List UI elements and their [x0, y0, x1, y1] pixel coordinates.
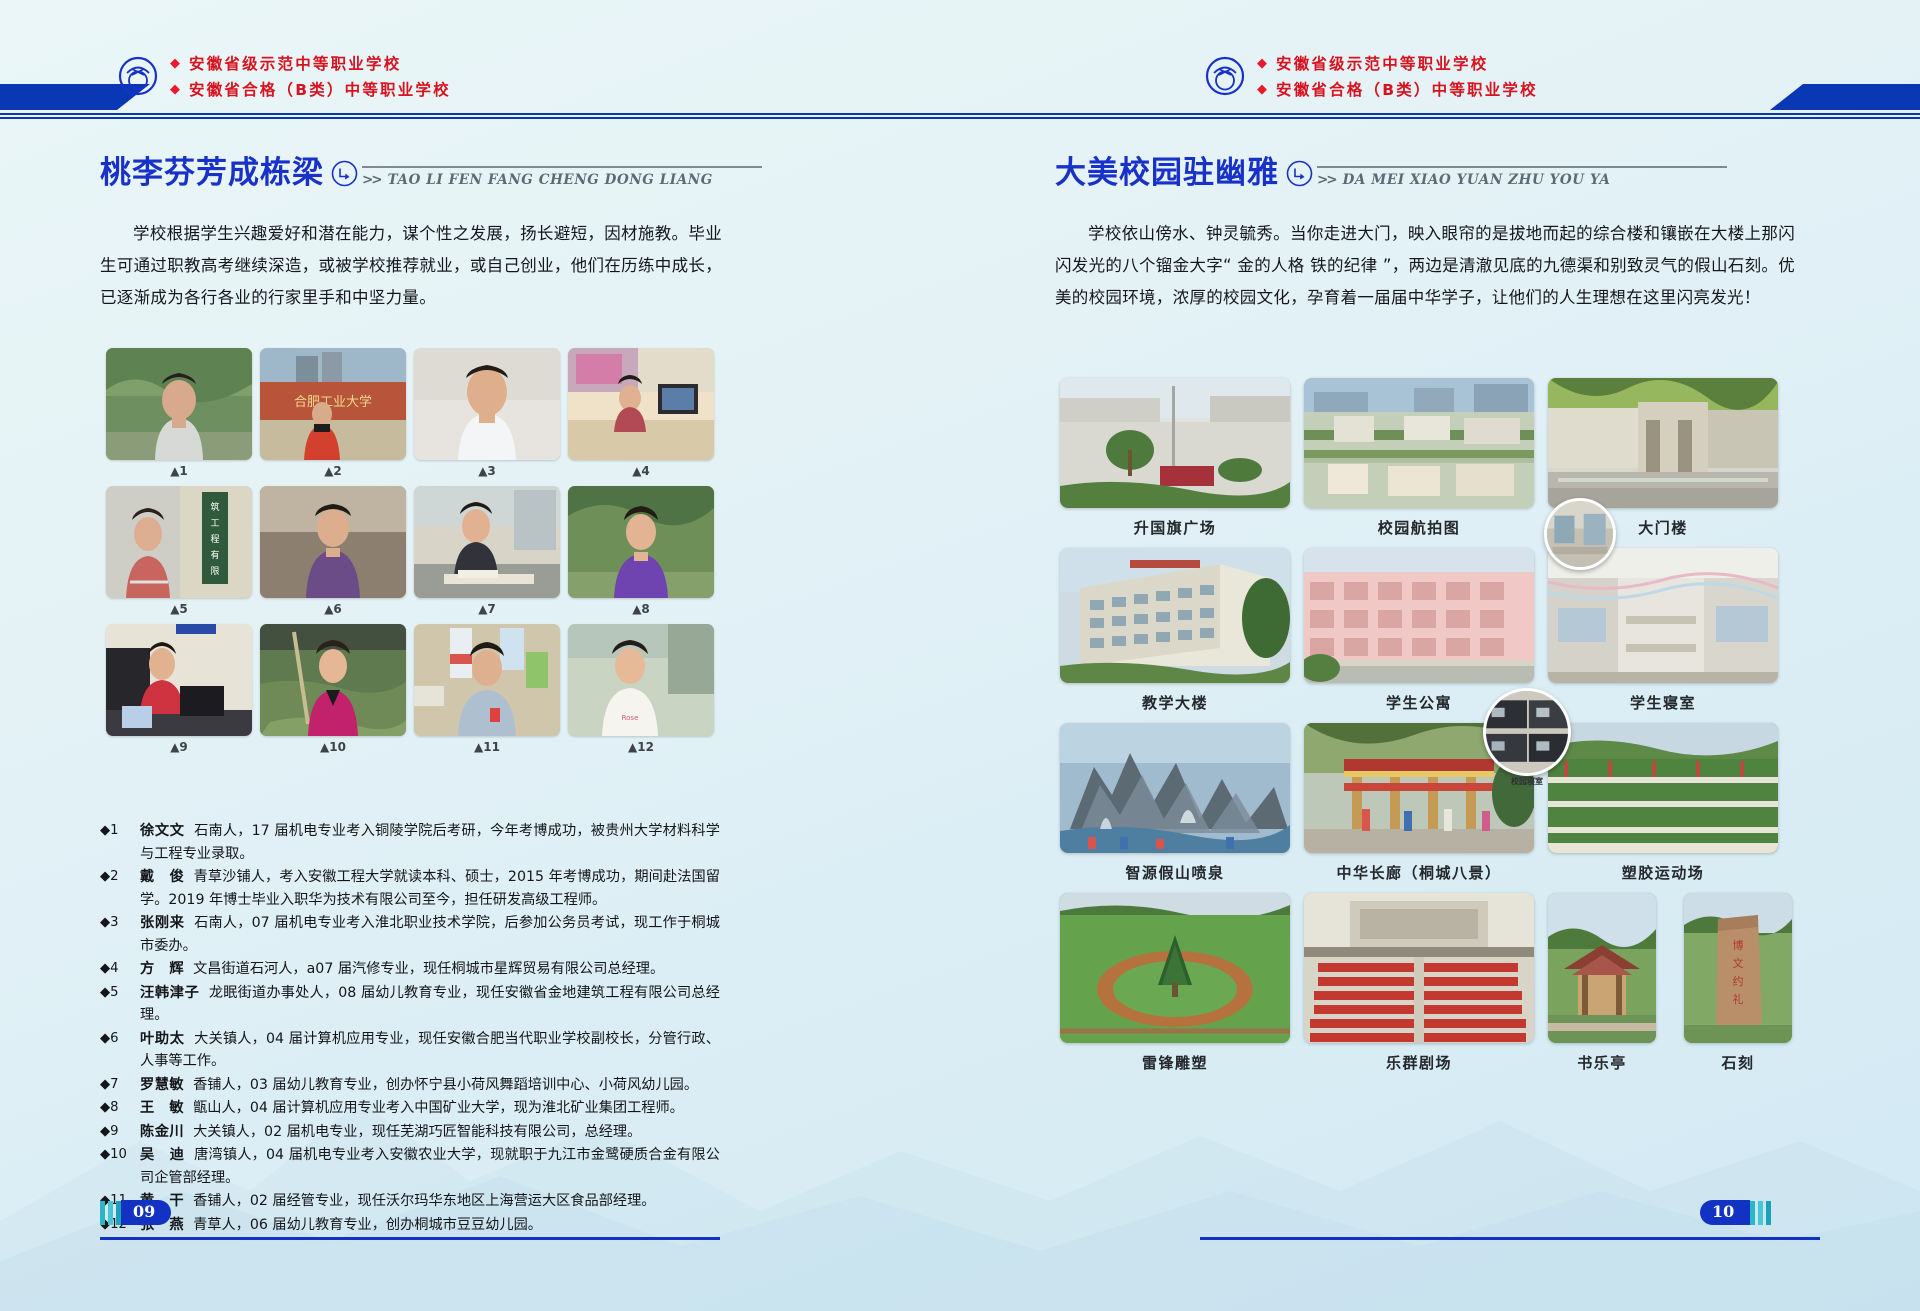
- campus-photo-grid: 升国旗广场: [1060, 378, 1792, 1073]
- campus-photo-cell[interactable]: 升国旗广场: [1060, 378, 1290, 538]
- alumni-photo[interactable]: [414, 486, 560, 598]
- alumni-photo-cell[interactable]: Rose ▲12: [568, 624, 714, 762]
- alumni-list-number: ◆4: [100, 958, 140, 981]
- alumni-photo[interactable]: [568, 348, 714, 460]
- right-section-rule: [1317, 166, 1727, 168]
- alumni-photo-cell[interactable]: ▲4: [568, 348, 714, 486]
- alumni-photo-caption: ▲2: [260, 464, 406, 478]
- alumni-list-number: ◆2: [100, 866, 140, 911]
- alumni-photo[interactable]: [260, 624, 406, 736]
- right-section-title-cn: 大美校园驻幽雅: [1055, 158, 1279, 189]
- svg-text:合肥工业大学: 合肥工业大学: [294, 394, 372, 410]
- diamond-icon: ◆: [170, 57, 180, 70]
- campus-photo-cell[interactable]: 智源假山喷泉: [1060, 723, 1290, 883]
- alumni-detail: 文昌街道石河人，a07 届汽修专业，现任桐城市星辉贸易有限公司总经理。: [193, 961, 664, 977]
- alumni-photo-cell[interactable]: 合肥工业大学 ▲2: [260, 348, 406, 486]
- alumni-detail: 龙眠街道办事处人，08 届幼儿教育专业，现任安徽省金地建筑工程有限公司总经理。: [140, 985, 720, 1024]
- campus-photo[interactable]: [1304, 378, 1534, 508]
- header-badge-left: ◆ 安徽省级示范中等职业学校 ◆ 安徽省合格（B类）中等职业学校: [118, 52, 451, 100]
- left-page-paragraph: 学校根据学生兴趣爱好和潜在能力，谋个性之发展，扬长避短，因材施教。毕业生可通过职…: [100, 218, 722, 314]
- alumni-photo[interactable]: [414, 624, 560, 736]
- campus-photo-row: 升国旗广场: [1060, 378, 1792, 538]
- campus-photo[interactable]: [1060, 378, 1290, 508]
- alumni-detail: 甑山人，04 届计算机应用专业考入中国矿业大学，现为淮北矿业集团工程师。: [193, 1100, 684, 1116]
- campus-photo-caption: 书乐亭: [1548, 1052, 1656, 1073]
- campus-photo-cell[interactable]: 书乐亭: [1548, 893, 1656, 1073]
- campus-photo-cell[interactable]: 教学大楼: [1060, 548, 1290, 713]
- left-footer-rule: [100, 1237, 720, 1240]
- arrow-down-right-circle-icon: [331, 160, 358, 187]
- campus-photo[interactable]: [1548, 378, 1778, 508]
- svg-text:限: 限: [210, 566, 219, 577]
- alumni-photo-caption: ▲6: [260, 602, 406, 616]
- alumni-list-item: ◆8 王 敏 甑山人，04 届计算机应用专业考入中国矿业大学，现为淮北矿业集团工…: [100, 1097, 720, 1120]
- campus-photo[interactable]: [1304, 548, 1534, 683]
- alumni-name: 陈金川: [140, 1124, 184, 1140]
- right-page-paragraph: 学校依山傍水、钟灵毓秀。当你走进大门，映入眼帘的是拔地而起的综合楼和镶嵌在大楼上…: [1055, 218, 1795, 314]
- alumni-photo[interactable]: [414, 348, 560, 460]
- alumni-list-number: ◆5: [100, 982, 140, 1027]
- alumni-detail: 大关镇人，04 届计算机应用专业，现任安徽合肥当代职业学校副校长，分管行政、人事…: [140, 1031, 720, 1070]
- alumni-photo-cell[interactable]: 筑 工 程 有 限 ▲5: [106, 486, 252, 624]
- alumni-photo-caption: ▲12: [568, 740, 714, 754]
- alumni-photo-cell[interactable]: ▲3: [414, 348, 560, 486]
- alumni-photo[interactable]: 筑 工 程 有 限: [106, 486, 252, 598]
- alumni-detail: 香铺人，03 届幼儿教育专业，创办怀宁县小荷风舞蹈培训中心、小荷风幼儿园。: [193, 1077, 698, 1093]
- alumni-photo-caption: ▲7: [414, 602, 560, 616]
- right-footer-rule: [1200, 1237, 1820, 1240]
- svg-text:有: 有: [210, 549, 219, 561]
- alumni-list-item: ◆2 戴 俊 青草沙铺人，考入安徽工程大学就读本科、硕士，2015 年考博成功，…: [100, 866, 720, 911]
- alumni-list-item: ◆4 方 辉 文昌街道石河人，a07 届汽修专业，现任桐城市星辉贸易有限公司总经…: [100, 958, 720, 981]
- alumni-photo-caption: ▲9: [106, 740, 252, 754]
- alumni-list-item: ◆5 汪韩津子 龙眠街道办事处人，08 届幼儿教育专业，现任安徽省金地建筑工程有…: [100, 982, 720, 1027]
- campus-photo[interactable]: [1060, 548, 1290, 683]
- footer-bars-decoration: [1750, 1201, 1771, 1225]
- alumni-name: 方 辉: [140, 961, 184, 977]
- alumni-photo[interactable]: Rose: [568, 624, 714, 736]
- campus-photo[interactable]: [1548, 893, 1656, 1043]
- campus-photo-row: 雷锋雕塑: [1060, 893, 1792, 1073]
- alumni-photo-cell[interactable]: ▲9: [106, 624, 252, 762]
- alumni-list-item: ◆7 罗慧敏 香铺人，03 届幼儿教育专业，创办怀宁县小荷风舞蹈培训中心、小荷风…: [100, 1074, 720, 1097]
- header-badge-line-2: 安徽省合格（B类）中等职业学校: [189, 78, 451, 100]
- alumni-name: 罗慧敏: [140, 1077, 184, 1093]
- campus-photo[interactable]: 博 文 约 礼: [1684, 893, 1792, 1043]
- alumni-list-item: ◆10 吴 迪 唐湾镇人，04 届机电专业考入安徽农业大学，现就职于九江市金鹭硬…: [100, 1144, 720, 1189]
- svg-text:博: 博: [1733, 939, 1744, 952]
- alumni-list-number: ◆6: [100, 1028, 140, 1073]
- svg-text:程: 程: [210, 534, 219, 545]
- alumni-list-item: ◆3 张刚来 石南人，07 届机电专业考入淮北职业技术学院，后参加公务员考试，现…: [100, 912, 720, 957]
- alumni-name: 汪韩津子: [140, 985, 199, 1001]
- campus-photo-cell[interactable]: 学生公寓: [1304, 548, 1534, 713]
- diamond-icon: ◆: [1257, 57, 1267, 70]
- campus-photo-caption: 学生寝室: [1548, 692, 1778, 713]
- alumni-photo-caption: ▲8: [568, 602, 714, 616]
- alumni-photo-grid: ▲1 合肥工业大学 ▲2: [106, 348, 714, 762]
- campus-photo-row: 智源假山喷泉: [1060, 723, 1792, 883]
- alumni-name: 吴 迪: [140, 1147, 185, 1163]
- campus-photo-cell[interactable]: 校园航拍图: [1304, 378, 1534, 538]
- left-section-pinyin-row: >> TAO LI FEN FANG CHENG DONG LIANG: [362, 172, 762, 188]
- chevron-right-icon: >>: [1317, 172, 1336, 188]
- left-section-rule: [362, 166, 762, 168]
- alumni-photo-caption: ▲10: [260, 740, 406, 754]
- header-badge-line-2: 安徽省合格（B类）中等职业学校: [1276, 78, 1538, 100]
- alumni-list-number: ◆10: [100, 1144, 140, 1189]
- dormitory-inset-bubble-1[interactable]: [1544, 498, 1616, 570]
- dormitory-inset-bubble-2[interactable]: [1483, 688, 1571, 776]
- header-accent-right: [1770, 84, 1920, 110]
- alumni-list-number: ◆9: [100, 1121, 140, 1144]
- campus-photo-cell[interactable]: 雷锋雕塑: [1060, 893, 1290, 1073]
- alumni-list-item: ◆11 黄 干 香铺人，02 届经管专业，现任沃尔玛华东地区上海营运大区食品部经…: [100, 1190, 720, 1213]
- alumni-name: 徐文文: [140, 823, 185, 839]
- campus-photo-row: 教学大楼: [1060, 548, 1792, 713]
- campus-photo-cell[interactable]: 博 文 约 礼 石刻: [1684, 893, 1792, 1073]
- alumni-photo-caption: ▲4: [568, 464, 714, 478]
- svg-text:Rose: Rose: [622, 714, 639, 722]
- alumni-photo-cell[interactable]: ▲10: [260, 624, 406, 762]
- alumni-name: 戴 俊: [140, 869, 184, 885]
- page-number-right: 10: [1700, 1200, 1750, 1225]
- campus-photo-caption: 塑胶运动场: [1548, 862, 1778, 883]
- alumni-list-number: ◆7: [100, 1074, 140, 1097]
- alumni-detail: 石南人，07 届机电专业考入淮北职业技术学院，后参加公务员考试，现工作于桐城市委…: [140, 915, 720, 954]
- alumni-photo-cell[interactable]: ▲8: [568, 486, 714, 624]
- svg-text:工: 工: [210, 519, 219, 529]
- alumni-name: 叶助太: [140, 1031, 185, 1047]
- footer-bars-decoration: [100, 1201, 121, 1225]
- campus-photo[interactable]: [1548, 723, 1778, 853]
- campus-photo-caption: 雷锋雕塑: [1060, 1052, 1290, 1073]
- svg-text:约: 约: [1733, 975, 1744, 988]
- campus-photo[interactable]: [1304, 893, 1534, 1043]
- brochure-spread: ◆ 安徽省级示范中等职业学校 ◆ 安徽省合格（B类）中等职业学校 ◆ 安徽省级示…: [0, 0, 1920, 1311]
- alumni-detail: 青草人，06 届幼儿教育专业，创办桐城市豆豆幼儿园。: [193, 1217, 542, 1233]
- alumni-name: 张刚来: [140, 915, 185, 931]
- alumni-list-item: ◆9 陈金川 大关镇人，02 届机电专业，现任芜湖巧匠智能科技有限公司，总经理。: [100, 1121, 720, 1144]
- alumni-photo-cell[interactable]: ▲11: [414, 624, 560, 762]
- school-emblem-icon: [118, 56, 158, 96]
- header-badge-line-1: 安徽省级示范中等职业学校: [189, 52, 401, 74]
- svg-text:礼: 礼: [1733, 992, 1744, 1006]
- alumni-photo-cell[interactable]: ▲1: [106, 348, 252, 486]
- diamond-icon: ◆: [1257, 83, 1267, 96]
- alumni-photo-cell[interactable]: ▲7: [414, 486, 560, 624]
- campus-photo[interactable]: [1060, 893, 1290, 1043]
- alumni-detail: 石南人，17 届机电专业考入铜陵学院后考研，今年考博成功，被贵州大学材料科学与工…: [140, 823, 720, 862]
- arrow-down-right-circle-icon: [1286, 160, 1313, 187]
- alumni-list-item: ◆1 徐文文 石南人，17 届机电专业考入铜陵学院后考研，今年考博成功，被贵州大…: [100, 820, 720, 865]
- alumni-detail: 香铺人，02 届经管专业，现任沃尔玛华东地区上海营运大区食品部经理。: [193, 1193, 655, 1209]
- alumni-photo[interactable]: [568, 486, 714, 598]
- alumni-detail: 大关镇人，02 届机电专业，现任芜湖巧匠智能科技有限公司，总经理。: [193, 1124, 641, 1140]
- alumni-list-item: ◆6 叶助太 大关镇人，04 届计算机应用专业，现任安徽合肥当代职业学校副校长，…: [100, 1028, 720, 1073]
- alumni-list-number: ◆8: [100, 1097, 140, 1120]
- campus-photo-cell[interactable]: 乐群剧场: [1304, 893, 1534, 1073]
- alumni-list-number: ◆3: [100, 912, 140, 957]
- right-page-footer: 10: [1700, 1200, 1771, 1225]
- campus-photo-caption: 教学大楼: [1060, 692, 1290, 713]
- alumni-list: ◆1 徐文文 石南人，17 届机电专业考入铜陵学院后考研，今年考博成功，被贵州大…: [100, 820, 720, 1237]
- campus-photo[interactable]: [1060, 723, 1290, 853]
- left-page-footer: 09: [100, 1200, 171, 1225]
- campus-photo-cell[interactable]: 学生寝室: [1548, 548, 1778, 713]
- alumni-list-number: ◆1: [100, 820, 140, 865]
- right-section-heading: 大美校园驻幽雅 >> DA MEI XIAO YUAN ZHU YOU YA: [1055, 158, 1727, 189]
- campus-photo-caption: 石刻: [1684, 1052, 1792, 1073]
- alumni-detail: 青草沙铺人，考入安徽工程大学就读本科、硕士，2015 年考博成功，期间赴法国留学…: [140, 869, 720, 908]
- left-section-title-cn: 桃李芬芳成栋梁: [100, 158, 324, 189]
- right-section-pinyin-row: >> DA MEI XIAO YUAN ZHU YOU YA: [1317, 172, 1727, 188]
- right-section-title-pinyin: DA MEI XIAO YUAN ZHU YOU YA: [1343, 172, 1611, 188]
- campus-photo-caption: 校园航拍图: [1304, 517, 1534, 538]
- campus-photo-caption: 中华长廊（桐城八景）: [1304, 862, 1534, 883]
- dormitory-inset-label: 校园寝室: [1483, 776, 1571, 787]
- header-badge-line-1: 安徽省级示范中等职业学校: [1276, 52, 1488, 74]
- page-number-left: 09: [121, 1200, 171, 1225]
- chevron-right-icon: >>: [362, 172, 381, 188]
- diamond-icon: ◆: [170, 83, 180, 96]
- alumni-photo[interactable]: [106, 348, 252, 460]
- alumni-detail: 唐湾镇人，04 届机电专业考入安徽农业大学，现就职于九江市金鹭硬质合金有限公司企…: [140, 1147, 720, 1186]
- svg-text:文: 文: [1733, 956, 1744, 970]
- alumni-photo-caption: ▲3: [414, 464, 560, 478]
- alumni-name: 王 敏: [140, 1100, 184, 1116]
- campus-photo-caption: 智源假山喷泉: [1060, 862, 1290, 883]
- left-section-title-pinyin: TAO LI FEN FANG CHENG DONG LIANG: [388, 172, 713, 188]
- campus-photo-caption: 乐群剧场: [1304, 1052, 1534, 1073]
- alumni-list-item: ◆12 张 燕 青草人，06 届幼儿教育专业，创办桐城市豆豆幼儿园。: [100, 1214, 720, 1237]
- svg-text:筑: 筑: [210, 501, 219, 513]
- alumni-photo[interactable]: [260, 486, 406, 598]
- header-double-rule: [0, 113, 1920, 119]
- left-section-heading: 桃李芬芳成栋梁 >> TAO LI FEN FANG CHENG DONG LI…: [100, 158, 762, 189]
- campus-photo-caption: 升国旗广场: [1060, 517, 1290, 538]
- header-badge-right: ◆ 安徽省级示范中等职业学校 ◆ 安徽省合格（B类）中等职业学校: [1205, 52, 1538, 100]
- alumni-photo[interactable]: 合肥工业大学: [260, 348, 406, 460]
- alumni-photo-cell[interactable]: ▲6: [260, 486, 406, 624]
- alumni-photo-caption: ▲11: [414, 740, 560, 754]
- school-emblem-icon: [1205, 56, 1245, 96]
- alumni-photo[interactable]: [106, 624, 252, 736]
- alumni-photo-caption: ▲1: [106, 464, 252, 478]
- campus-photo-cell[interactable]: 塑胶运动场: [1548, 723, 1778, 883]
- alumni-photo-caption: ▲5: [106, 602, 252, 616]
